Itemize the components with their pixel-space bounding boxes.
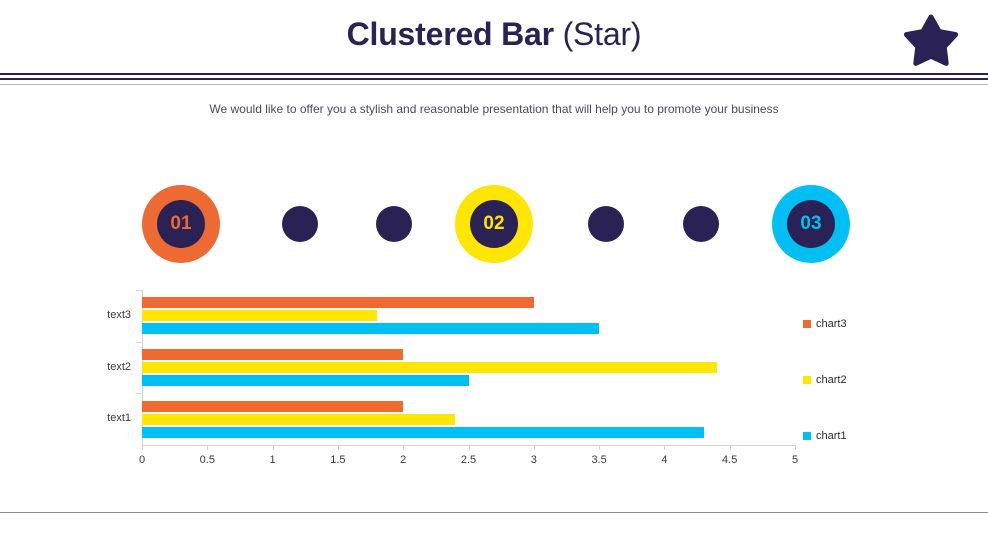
x-axis-tick — [730, 446, 731, 450]
x-axis-tick — [338, 446, 339, 450]
x-axis-tick-label: 3 — [514, 454, 554, 466]
x-axis-tick-label: 1 — [253, 454, 293, 466]
step-circle-label-02: 02 — [470, 200, 518, 248]
x-axis-tick — [534, 446, 535, 450]
step-circle-03[interactable]: 03 — [772, 185, 850, 263]
header-divider-gray — [0, 84, 988, 85]
x-axis-tick-label: 0 — [122, 454, 162, 466]
x-axis-tick — [273, 446, 274, 450]
x-axis-tick-label: 4.5 — [710, 454, 750, 466]
x-axis-tick-label: 1.5 — [318, 454, 358, 466]
bar-chart2-text3 — [142, 310, 377, 321]
y-axis-category-label: text1 — [107, 412, 131, 424]
header-divider-navy-upper — [0, 73, 988, 75]
step-circle-label-01: 01 — [157, 200, 205, 248]
step-circle-02[interactable]: 02 — [455, 185, 533, 263]
y-axis-tick — [136, 342, 142, 343]
x-axis-tick-label: 4 — [644, 454, 684, 466]
y-axis-tick — [136, 290, 142, 291]
legend-label-chart2: chart2 — [816, 374, 847, 386]
x-axis-tick-label: 0.5 — [187, 454, 227, 466]
step-circle-01[interactable]: 01 — [142, 185, 220, 263]
bar-chart1-text1 — [142, 427, 704, 438]
legend-item-chart2[interactable]: chart2 — [803, 374, 847, 386]
x-axis-tick — [403, 446, 404, 450]
x-axis-tick — [599, 446, 600, 450]
bar-chart2-text1 — [142, 414, 455, 425]
x-axis-tick — [664, 446, 665, 450]
star-icon — [903, 14, 959, 66]
step-circle-label-03: 03 — [787, 200, 835, 248]
bar-chart3-text2 — [142, 349, 403, 360]
bar-chart3-text3 — [142, 297, 534, 308]
subtitle-text: We would like to offer you a stylish and… — [0, 102, 988, 116]
legend-label-chart3: chart3 — [816, 318, 847, 330]
step-dot-3 — [376, 206, 412, 242]
x-axis-tick — [795, 446, 796, 450]
legend-swatch-chart1 — [803, 432, 811, 440]
legend-label-chart1: chart1 — [816, 430, 847, 442]
bar-chart2-text2 — [142, 362, 717, 373]
footer-divider — [0, 512, 988, 513]
step-circle-row: 010203 — [0, 180, 988, 270]
bar-chart3-text1 — [142, 401, 403, 412]
bar-chart1-text2 — [142, 375, 469, 386]
step-dot-5 — [588, 206, 624, 242]
y-axis-tick — [136, 393, 142, 394]
step-dot-6 — [683, 206, 719, 242]
y-axis-category-label: text2 — [107, 361, 131, 373]
y-axis-category-label: text3 — [107, 309, 131, 321]
x-axis-tick — [142, 446, 143, 450]
x-axis-tick-label: 2 — [383, 454, 423, 466]
step-dot-2 — [282, 206, 318, 242]
page-title-bold: Clustered Bar — [347, 16, 554, 52]
x-axis-tick — [207, 446, 208, 450]
page-title-regular: (Star) — [563, 16, 642, 52]
legend-item-chart1[interactable]: chart1 — [803, 430, 847, 442]
page-header: Clustered Bar (Star) — [0, 0, 988, 78]
x-axis-tick-label: 3.5 — [579, 454, 619, 466]
bar-chart1-text3 — [142, 323, 599, 334]
header-divider-navy-lower — [0, 78, 988, 80]
legend-item-chart3[interactable]: chart3 — [803, 318, 847, 330]
chart-legend: chart3chart2chart1 — [803, 285, 923, 465]
page-title: Clustered Bar (Star) — [0, 16, 988, 53]
x-axis-tick — [469, 446, 470, 450]
legend-swatch-chart2 — [803, 376, 811, 384]
legend-swatch-chart3 — [803, 320, 811, 328]
x-axis-tick-label: 2.5 — [449, 454, 489, 466]
